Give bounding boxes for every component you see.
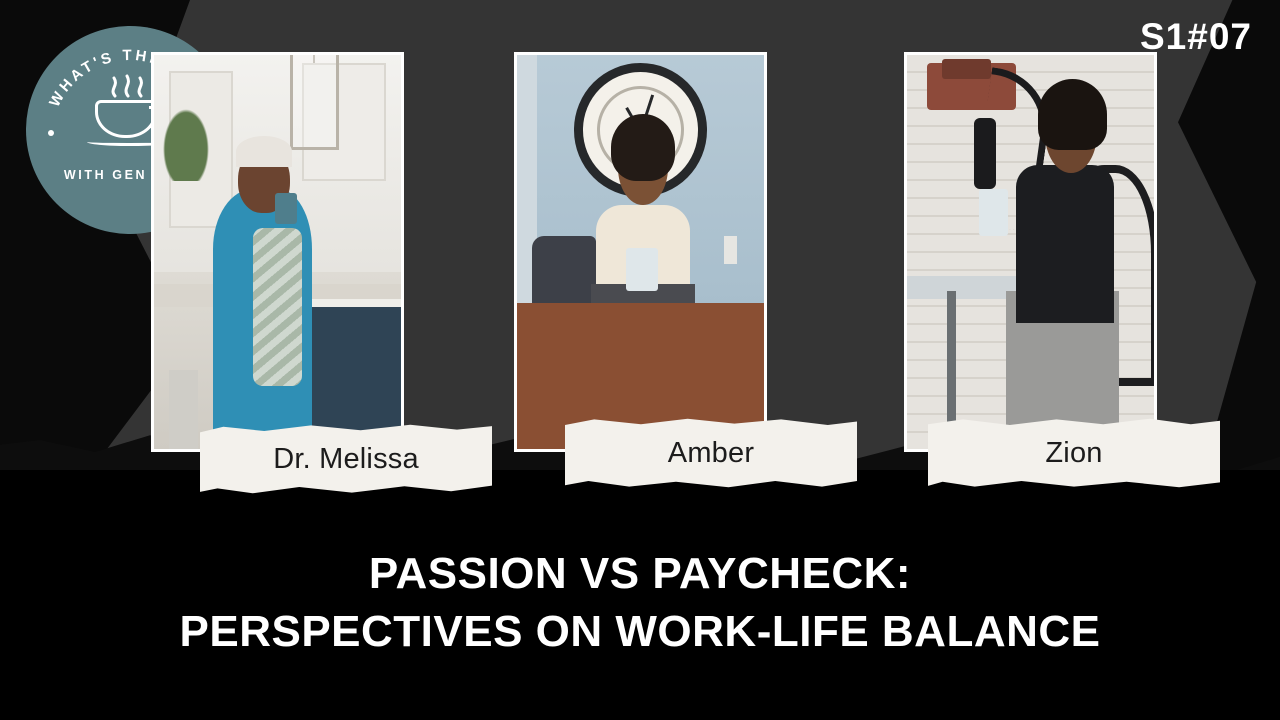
guest-hair (1038, 79, 1107, 150)
guest-mug (275, 193, 297, 225)
title-line-1: PASSION VS PAYCHECK: (0, 545, 1280, 603)
nameplate-amber: Amber (565, 418, 857, 488)
guest-hair (611, 114, 675, 181)
guest-hair (236, 136, 293, 168)
guest-shirt (1016, 165, 1115, 323)
logo-dot-left (48, 130, 54, 136)
guest-mug (979, 189, 1009, 236)
title-line-2: PERSPECTIVES ON WORK-LIFE BALANCE (0, 603, 1280, 661)
guest-photo-dr-melissa (151, 52, 404, 452)
guest-photo-zion (904, 52, 1157, 452)
nameplate-dr-melissa: Dr. Melissa (200, 424, 492, 494)
episode-title: PASSION VS PAYCHECK: PERSPECTIVES ON WOR… (0, 545, 1280, 661)
wall-outlet (724, 236, 736, 264)
cup-body (95, 100, 157, 138)
house-plant (159, 102, 213, 181)
guest-mug (626, 248, 658, 291)
guest-photo-amber (514, 52, 767, 452)
nameplate-zion: Zion (928, 418, 1220, 488)
guest-scarf (253, 228, 302, 386)
pendant-lamp (290, 52, 339, 150)
wall-decor (942, 59, 991, 79)
trash-bin (169, 370, 199, 449)
steam-icon (105, 74, 151, 98)
microphone-icon (974, 118, 996, 189)
video-thumbnail-canvas: WHAT'S THE TEA? WITH GEN X.Y.Z S1#07 (0, 0, 1280, 720)
